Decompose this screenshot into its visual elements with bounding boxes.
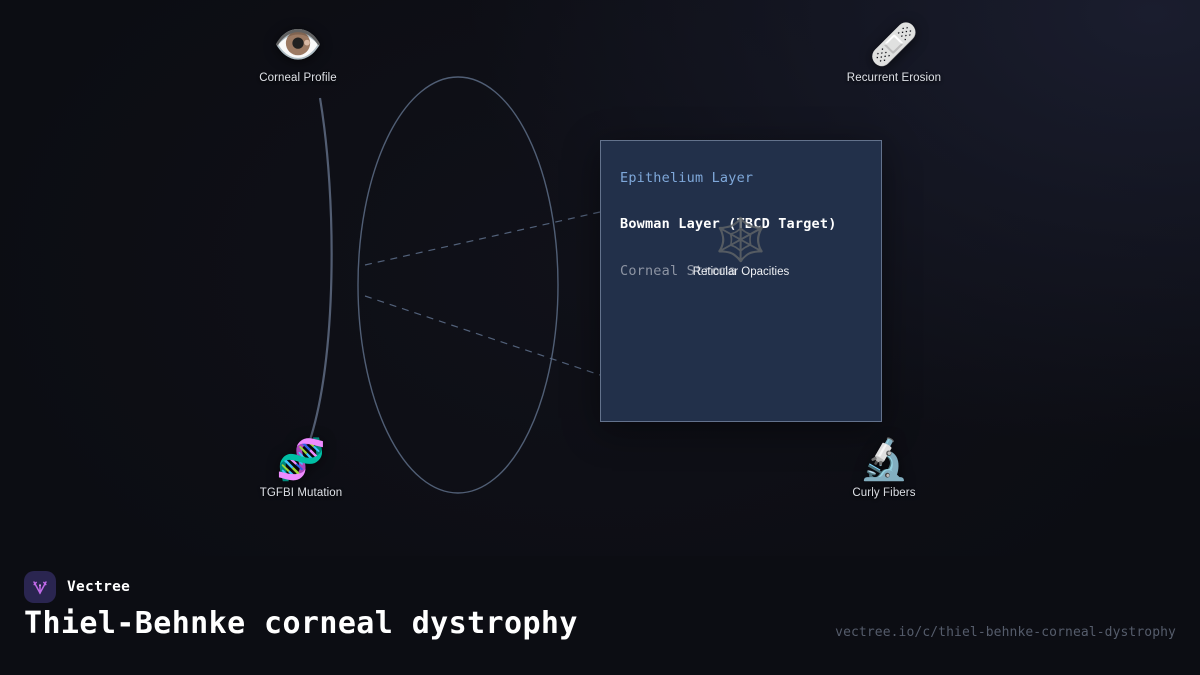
reticular-opacities-label: Reticular Opacities	[693, 266, 790, 278]
node-corneal-profile[interactable]: 👁️ Corneal Profile	[223, 25, 373, 84]
reticular-opacities-marker: 🕸️ Reticular Opacities	[601, 219, 881, 278]
node-tgfbi-mutation[interactable]: 🧬 TGFBI Mutation	[226, 440, 376, 499]
diagram-canvas: Epithelium Layer Bowman Layer (TBCD Targ…	[0, 0, 1200, 675]
node-label-corneal-profile: Corneal Profile	[259, 72, 337, 84]
brand-row[interactable]: Vectree	[24, 571, 130, 603]
node-recurrent-erosion[interactable]: 🩹 Recurrent Erosion	[819, 25, 969, 84]
cornea-layer-card[interactable]: Epithelium Layer Bowman Layer (TBCD Targ…	[600, 140, 882, 422]
page-title: Thiel-Behnke corneal dystrophy	[24, 606, 578, 641]
spider-web-icon: 🕸️	[715, 219, 767, 261]
edge-cornea-to-card-lower	[365, 296, 600, 375]
vectree-logo-icon	[24, 571, 56, 603]
footer-bar: Vectree Thiel-Behnke corneal dystrophy	[0, 556, 1200, 675]
node-label-tgfbi-mutation: TGFBI Mutation	[260, 487, 343, 499]
graph-area: Epithelium Layer Bowman Layer (TBCD Targ…	[0, 0, 1200, 556]
node-label-curly-fibers: Curly Fibers	[852, 487, 915, 499]
edge-cornea-to-card-upper	[365, 212, 600, 265]
bandage-icon: 🩹	[869, 25, 919, 65]
microscope-icon: 🔬	[859, 440, 909, 480]
dna-icon: 🧬	[276, 440, 326, 480]
node-label-recurrent-erosion: Recurrent Erosion	[847, 72, 941, 84]
edge-corneal-profile-to-tgfbi	[309, 98, 332, 443]
card-layer-epithelium: Epithelium Layer	[601, 170, 881, 186]
node-curly-fibers[interactable]: 🔬 Curly Fibers	[809, 440, 959, 499]
eye-icon: 👁️	[273, 25, 323, 65]
cornea-outline-ellipse	[358, 77, 558, 493]
brand-name: Vectree	[67, 579, 130, 595]
footer-url: vectree.io/c/thiel-behnke-corneal-dystro…	[835, 625, 1176, 640]
